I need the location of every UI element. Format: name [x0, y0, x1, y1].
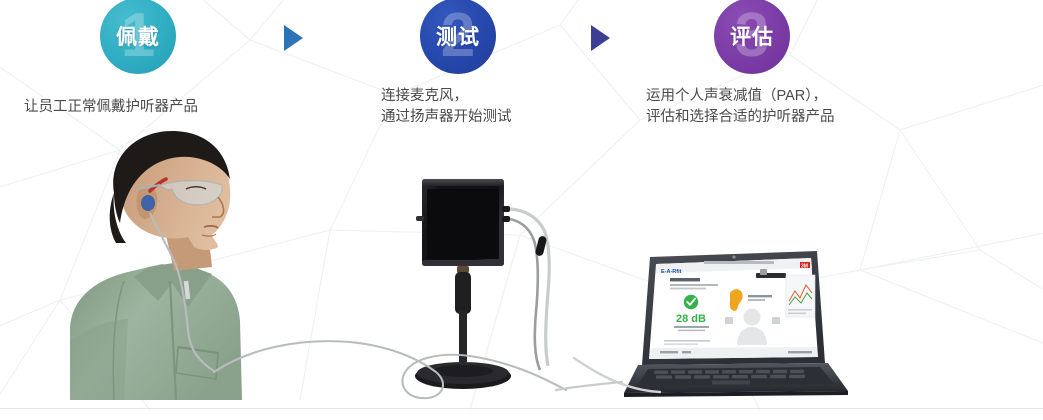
bottom-divider [0, 408, 1043, 409]
step-2-label: 测试 [436, 21, 480, 51]
hearing-protection-steps-banner: 1 佩戴 让员工正常佩戴护听器产品 2 测试 连接麦克风， 通过扬声器开始测试 … [0, 0, 1043, 420]
step-3-label: 评估 [730, 21, 774, 51]
step-1-label: 佩戴 [116, 21, 160, 51]
cables-overlay [0, 0, 1043, 420]
